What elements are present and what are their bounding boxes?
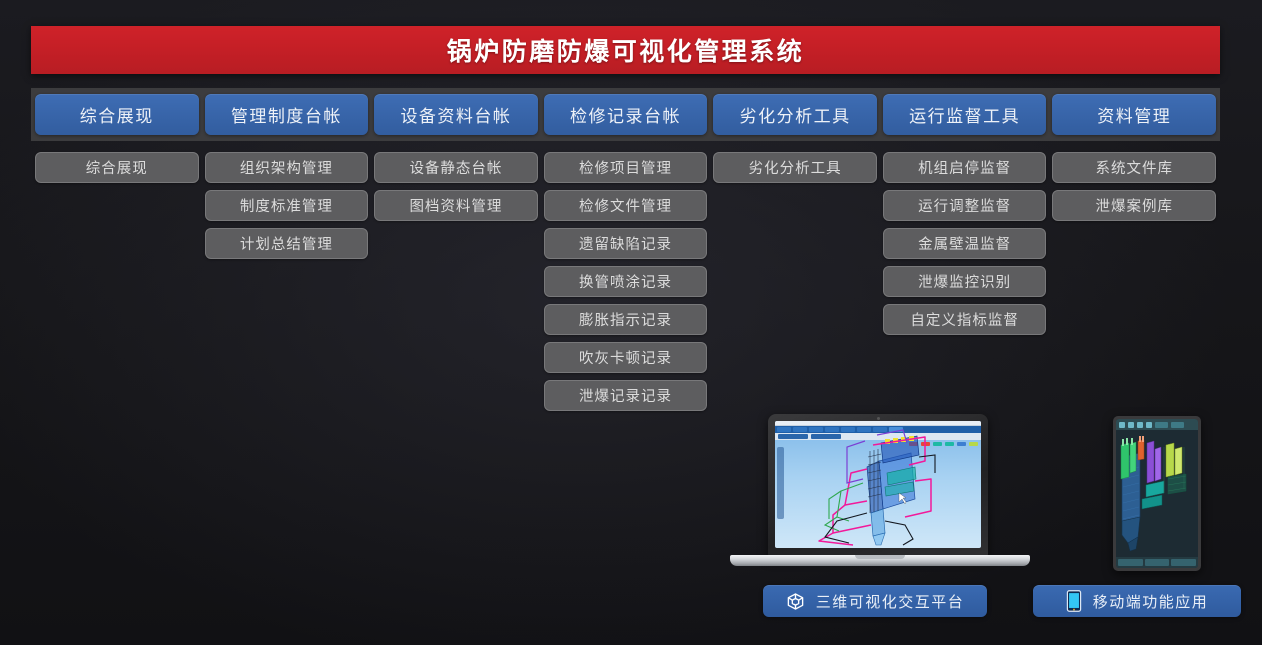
submenu-column-management-system: 组织架构管理 制度标准管理 计划总结管理 — [205, 152, 369, 259]
submenu-column-comprehensive: 综合展现 — [35, 152, 199, 183]
category-tab-management-system[interactable]: 管理制度台帐 — [205, 94, 369, 135]
category-tab-maintenance-record[interactable]: 检修记录台帐 — [544, 94, 708, 135]
boiler-3d-model-desktop — [775, 421, 981, 548]
mobile-device-illustration — [1113, 416, 1201, 571]
mobile-screen — [1116, 419, 1198, 568]
smartphone-icon — [1066, 590, 1082, 612]
submenu-item[interactable]: 图档资料管理 — [374, 190, 538, 221]
submenu-column-equipment-data: 设备静态台帐 图档资料管理 — [374, 152, 538, 221]
dashboard-stage: 锅炉防磨防爆可视化管理系统 综合展现 管理制度台帐 设备资料台帐 检修记录台帐 … — [0, 0, 1262, 645]
laptop-illustration — [730, 414, 1030, 579]
submenu-column-operation-supervision: 机组启停监督 运行调整监督 金属壁温监督 泄爆监控识别 自定义指标监督 — [883, 152, 1047, 335]
laptop-screen — [775, 421, 981, 548]
category-nav-bar: 综合展现 管理制度台帐 设备资料台帐 检修记录台帐 劣化分析工具 运行监督工具 … — [31, 88, 1220, 141]
submenu-item[interactable]: 综合展现 — [35, 152, 199, 183]
submenu-item[interactable]: 设备静态台帐 — [374, 152, 538, 183]
mobile-app-button[interactable]: 移动端功能应用 — [1033, 585, 1241, 617]
page-title: 锅炉防磨防爆可视化管理系统 — [447, 32, 805, 68]
category-tab-document-management[interactable]: 资料管理 — [1052, 94, 1216, 135]
submenu-item[interactable]: 遗留缺陷记录 — [544, 228, 708, 259]
mobile-bottom-bar — [1116, 557, 1198, 568]
category-tab-equipment-data[interactable]: 设备资料台帐 — [374, 94, 538, 135]
cube-3d-icon — [786, 592, 805, 611]
submenu-item[interactable]: 换管喷涂记录 — [544, 266, 708, 297]
three-d-platform-button[interactable]: 三维可视化交互平台 — [763, 585, 987, 617]
submenu-item[interactable]: 检修文件管理 — [544, 190, 708, 221]
mobile-app-label: 移动端功能应用 — [1093, 591, 1209, 612]
submenu-column-degradation-analysis: 劣化分析工具 — [713, 152, 877, 183]
submenu-item[interactable]: 系统文件库 — [1052, 152, 1216, 183]
category-tab-degradation-analysis[interactable]: 劣化分析工具 — [713, 94, 877, 135]
submenu-item[interactable]: 膨胀指示记录 — [544, 304, 708, 335]
submenu-item[interactable]: 机组启停监督 — [883, 152, 1047, 183]
boiler-3d-model-mobile — [1116, 419, 1198, 568]
submenu-item[interactable]: 自定义指标监督 — [883, 304, 1047, 335]
submenu-item[interactable]: 泄爆案例库 — [1052, 190, 1216, 221]
laptop-notch — [855, 555, 905, 559]
submenu-item[interactable]: 计划总结管理 — [205, 228, 369, 259]
submenu-item[interactable]: 组织架构管理 — [205, 152, 369, 183]
three-d-platform-label: 三维可视化交互平台 — [816, 591, 965, 612]
submenu-item[interactable]: 金属壁温监督 — [883, 228, 1047, 259]
page-title-bar: 锅炉防磨防爆可视化管理系统 — [31, 26, 1220, 74]
laptop-lid — [768, 414, 988, 557]
laptop-base — [730, 555, 1030, 566]
laptop-camera-icon — [877, 417, 880, 420]
submenu-columns: 综合展现 组织架构管理 制度标准管理 计划总结管理 设备静态台帐 图档资料管理 … — [31, 152, 1220, 411]
submenu-item[interactable]: 运行调整监督 — [883, 190, 1047, 221]
submenu-item[interactable]: 检修项目管理 — [544, 152, 708, 183]
submenu-item[interactable]: 劣化分析工具 — [713, 152, 877, 183]
submenu-column-maintenance-record: 检修项目管理 检修文件管理 遗留缺陷记录 换管喷涂记录 膨胀指示记录 吹灰卡顿记… — [544, 152, 708, 411]
submenu-item[interactable]: 泄爆记录记录 — [544, 380, 708, 411]
category-tab-operation-supervision[interactable]: 运行监督工具 — [883, 94, 1047, 135]
submenu-item[interactable]: 吹灰卡顿记录 — [544, 342, 708, 373]
submenu-column-document-management: 系统文件库 泄爆案例库 — [1052, 152, 1216, 221]
category-tab-comprehensive[interactable]: 综合展现 — [35, 94, 199, 135]
submenu-item[interactable]: 泄爆监控识别 — [883, 266, 1047, 297]
submenu-item[interactable]: 制度标准管理 — [205, 190, 369, 221]
